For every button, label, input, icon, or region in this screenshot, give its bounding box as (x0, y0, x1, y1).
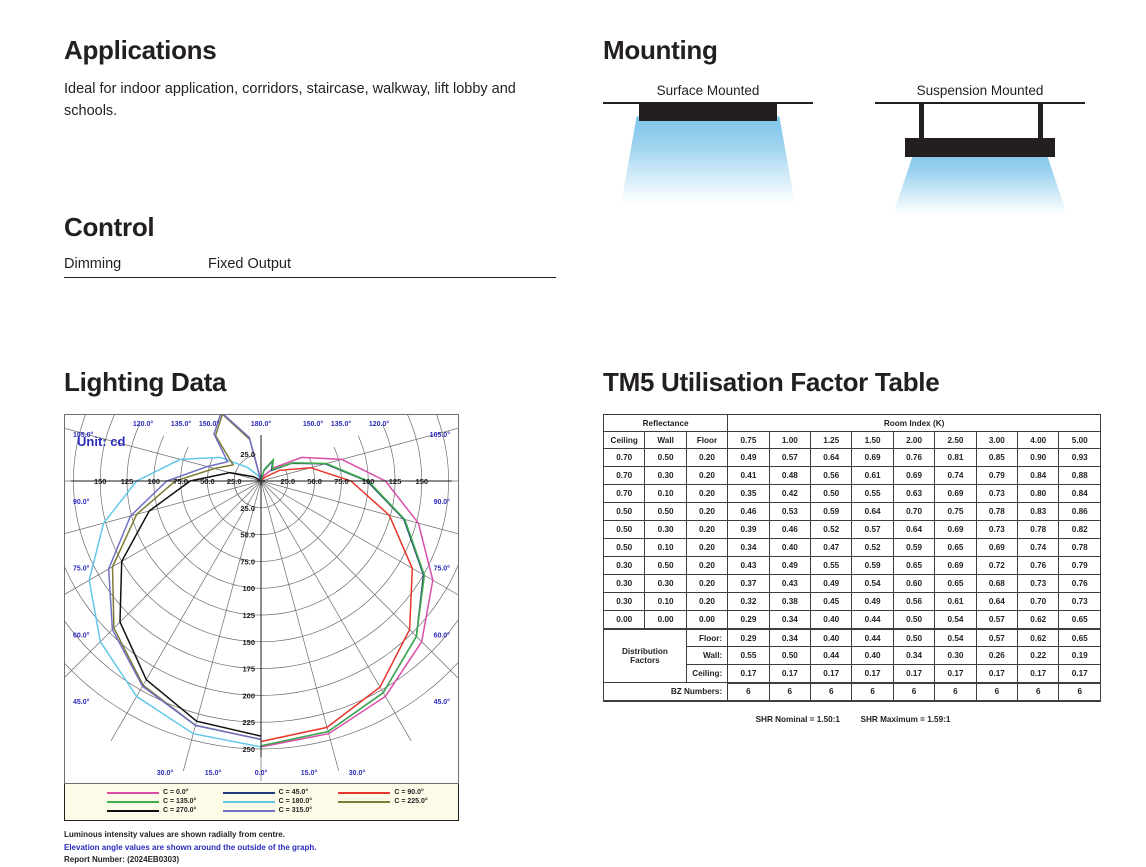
mounting-diagram-surface (603, 104, 813, 204)
cell-utilisation-factor: 0.56 (893, 593, 934, 611)
polar-radial-tick-label: 100 (362, 477, 375, 486)
cell-utilisation-factor: 0.39 (728, 521, 769, 539)
polar-elevation-label: 60.0° (434, 632, 451, 640)
polar-elevation-label: 105.0° (430, 431, 451, 439)
cell-reflectance: 0.50 (604, 521, 645, 539)
cell-distribution-factor: 0.19 (1059, 647, 1101, 665)
legend-label: C = 135.0° (163, 798, 196, 805)
cell-distribution-factor: 0.17 (1018, 665, 1059, 683)
cell-utilisation-factor: 0.90 (1018, 449, 1059, 467)
control-row-dimming: Dimming Fixed Output (64, 256, 556, 278)
distribution-factors-label-line1: Distribution (604, 647, 686, 656)
cell-bz-number: 6 (935, 683, 976, 701)
cell-utilisation-factor: 0.64 (893, 521, 934, 539)
cell-utilisation-factor: 0.65 (1059, 611, 1101, 629)
cell-reflectance: 0.00 (645, 611, 686, 629)
column-header-reflectance: Ceiling (604, 432, 645, 449)
cell-utilisation-factor: 0.57 (976, 611, 1017, 629)
cell-utilisation-factor: 0.64 (811, 449, 852, 467)
distribution-factor-name: Ceiling: (686, 665, 727, 683)
cell-utilisation-factor: 0.73 (1059, 593, 1101, 611)
cell-utilisation-factor: 0.61 (935, 593, 976, 611)
cell-distribution-factor: 0.54 (935, 629, 976, 647)
cell-utilisation-factor: 0.64 (976, 593, 1017, 611)
table-row: 0.300.500.200.430.490.550.590.650.690.72… (604, 557, 1101, 575)
cell-utilisation-factor: 0.88 (1059, 467, 1101, 485)
cell-utilisation-factor: 0.54 (935, 611, 976, 629)
mounting-option-suspension: Suspension Mounted (875, 83, 1085, 204)
legend-color-swatch (107, 801, 159, 803)
cell-utilisation-factor: 0.80 (1018, 485, 1059, 503)
cell-utilisation-factor: 0.69 (976, 539, 1017, 557)
cell-utilisation-factor: 0.59 (811, 503, 852, 521)
cell-utilisation-factor: 0.69 (893, 467, 934, 485)
legend-label: C = 225.0° (394, 798, 427, 805)
cell-distribution-factor: 0.34 (769, 629, 810, 647)
cell-distribution-factor: 0.17 (1059, 665, 1101, 683)
light-beam-icon (893, 152, 1067, 214)
table-column-header-row: CeilingWallFloor0.751.001.251.502.002.50… (604, 432, 1101, 449)
polar-elevation-label: 15.0° (205, 769, 222, 777)
polar-radial-tick-label: 200 (242, 692, 255, 701)
polar-elevation-label: 15.0° (301, 769, 318, 777)
cell-utilisation-factor: 0.59 (893, 539, 934, 557)
cell-utilisation-factor: 0.69 (935, 557, 976, 575)
cell-utilisation-factor: 0.78 (976, 503, 1017, 521)
polar-curve (261, 461, 424, 746)
cell-utilisation-factor: 0.82 (1059, 521, 1101, 539)
cell-utilisation-factor: 0.68 (976, 575, 1017, 593)
control-label-dimming: Dimming (64, 256, 208, 272)
column-header-room-index: 3.00 (976, 432, 1017, 449)
cell-distribution-factor: 0.44 (811, 647, 852, 665)
cell-utilisation-factor: 0.93 (1059, 449, 1101, 467)
cell-utilisation-factor: 0.74 (935, 467, 976, 485)
polar-radial-tick-label: 150 (416, 477, 429, 486)
cell-utilisation-factor: 0.63 (893, 485, 934, 503)
cell-distribution-factor: 0.65 (1059, 629, 1101, 647)
cell-utilisation-factor: 0.49 (728, 449, 769, 467)
cell-distribution-factor: 0.40 (852, 647, 893, 665)
tm5-title: TM5 Utilisation Factor Table (603, 369, 1103, 395)
polar-elevation-label: 150.0° (199, 420, 220, 428)
table-row: 0.700.500.200.490.570.640.690.760.810.85… (604, 449, 1101, 467)
cell-distribution-factor: 0.34 (893, 647, 934, 665)
cell-utilisation-factor: 0.84 (1018, 467, 1059, 485)
polar-radial-tick-label: 75.0 (334, 477, 349, 486)
cell-distribution-factor: 0.44 (852, 629, 893, 647)
mounting-title: Mounting (603, 37, 1103, 63)
unit-label: Unit: cd (77, 434, 125, 449)
cell-utilisation-factor: 0.73 (976, 485, 1017, 503)
table-row: 0.500.500.200.460.530.590.640.700.750.78… (604, 503, 1101, 521)
distribution-factor-row: DistributionFactorsFloor:0.290.340.400.4… (604, 629, 1101, 647)
cell-utilisation-factor: 0.37 (728, 575, 769, 593)
luminaire-body-icon (905, 138, 1055, 157)
note-radial: Luminous intensity values are shown radi… (64, 829, 544, 841)
legend-item: C = 0.0° (107, 789, 223, 796)
cell-bz-number: 6 (852, 683, 893, 701)
polar-chart-legend: C = 0.0°C = 45.0°C = 90.0°C = 135.0°C = … (64, 784, 459, 821)
legend-item: C = 270.0° (107, 807, 223, 814)
cell-bz-number: 6 (1018, 683, 1059, 701)
cell-utilisation-factor: 0.69 (935, 485, 976, 503)
applications-description: Ideal for indoor application, corridors,… (64, 78, 564, 123)
cell-distribution-factor: 0.17 (728, 665, 769, 683)
legend-item: C = 90.0° (338, 789, 454, 796)
cell-reflectance: 0.30 (645, 467, 686, 485)
legend-label: C = 45.0° (279, 789, 308, 796)
applications-section: Applications Ideal for indoor applicatio… (64, 20, 564, 137)
cell-utilisation-factor: 0.41 (728, 467, 769, 485)
cell-utilisation-factor: 0.53 (769, 503, 810, 521)
distribution-factor-name: Floor: (686, 629, 727, 647)
cell-utilisation-factor: 0.84 (1059, 485, 1101, 503)
cell-reflectance: 0.70 (604, 485, 645, 503)
cell-reflectance: 0.50 (645, 449, 686, 467)
cell-reflectance: 0.20 (686, 503, 727, 521)
cell-utilisation-factor: 0.52 (852, 539, 893, 557)
cell-utilisation-factor: 0.40 (811, 611, 852, 629)
polar-radial-tick-label: 50.0 (240, 531, 255, 540)
cell-distribution-factor: 0.50 (893, 629, 934, 647)
cell-distribution-factor: 0.17 (811, 665, 852, 683)
cell-utilisation-factor: 0.76 (1059, 575, 1101, 593)
cell-reflectance: 0.50 (604, 503, 645, 521)
cell-utilisation-factor: 0.79 (976, 467, 1017, 485)
cell-reflectance: 0.20 (686, 575, 727, 593)
polar-radial-tick-label: 50.0 (200, 477, 215, 486)
polar-radial-tick-label: 75.0 (240, 558, 255, 567)
polar-radial-tick-label: 125 (389, 477, 402, 486)
note-report-number: Report Number: (2024EB0303) (64, 854, 544, 866)
cell-utilisation-factor: 0.65 (893, 557, 934, 575)
cell-utilisation-factor: 0.43 (769, 575, 810, 593)
legend-label: C = 270.0° (163, 807, 196, 814)
cell-bz-number: 6 (976, 683, 1017, 701)
table-row: 0.500.300.200.390.460.520.570.640.690.73… (604, 521, 1101, 539)
legend-label: C = 0.0° (163, 789, 189, 796)
cell-utilisation-factor: 0.62 (1018, 611, 1059, 629)
cell-reflectance: 0.30 (604, 575, 645, 593)
polar-elevation-label: 90.0° (434, 498, 451, 506)
cell-utilisation-factor: 0.61 (852, 467, 893, 485)
cell-utilisation-factor: 0.46 (728, 503, 769, 521)
cell-distribution-factor: 0.17 (976, 665, 1017, 683)
mounting-options: Surface Mounted Suspension Mounted (603, 83, 1103, 204)
polar-radial-tick-label: 75.0 (173, 477, 188, 486)
polar-elevation-label: 75.0° (434, 565, 451, 573)
cell-distribution-factor: 0.40 (811, 629, 852, 647)
distribution-factors-label: DistributionFactors (604, 629, 687, 683)
polar-radial-tick-label: 100 (242, 585, 255, 594)
mounting-diagram-suspension (875, 104, 1085, 204)
legend-color-swatch (338, 801, 390, 803)
note-elevation: Elevation angle values are shown around … (64, 842, 544, 854)
suspension-rod-icon (1038, 104, 1043, 140)
polar-elevation-label: 45.0° (73, 699, 90, 707)
polar-elevation-label: 135.0° (171, 420, 192, 428)
cell-distribution-factor: 0.30 (935, 647, 976, 665)
control-section: Control Dimming Fixed Output (64, 197, 556, 278)
cell-utilisation-factor: 0.55 (811, 557, 852, 575)
table-row: 0.300.300.200.370.430.490.540.600.650.68… (604, 575, 1101, 593)
legend-item: C = 180.0° (223, 798, 339, 805)
cell-distribution-factor: 0.17 (935, 665, 976, 683)
group-header-room-index: Room Index (K) (728, 415, 1101, 432)
polar-elevation-label: 90.0° (73, 498, 90, 506)
cell-distribution-factor: 0.55 (728, 647, 769, 665)
cell-utilisation-factor: 0.75 (935, 503, 976, 521)
cell-bz-number: 6 (1059, 683, 1101, 701)
cell-utilisation-factor: 0.34 (728, 539, 769, 557)
cell-distribution-factor: 0.57 (976, 629, 1017, 647)
cell-utilisation-factor: 0.85 (976, 449, 1017, 467)
polar-elevation-label: 135.0° (331, 420, 352, 428)
polar-elevation-label: 180.0° (251, 420, 272, 428)
polar-curve (261, 458, 433, 748)
table-group-header-row: ReflectanceRoom Index (K) (604, 415, 1101, 432)
distribution-factors-label-line2: Factors (604, 656, 686, 665)
cell-utilisation-factor: 0.45 (811, 593, 852, 611)
cell-bz-number: 6 (728, 683, 769, 701)
column-header-room-index: 1.50 (852, 432, 893, 449)
cell-utilisation-factor: 0.47 (811, 539, 852, 557)
cell-utilisation-factor: 0.70 (1018, 593, 1059, 611)
cell-distribution-factor: 0.62 (1018, 629, 1059, 647)
cell-reflectance: 0.20 (686, 449, 727, 467)
cell-distribution-factor: 0.17 (769, 665, 810, 683)
cell-reflectance: 0.50 (645, 503, 686, 521)
cell-reflectance: 0.20 (686, 539, 727, 557)
polar-grid-spoke (65, 481, 261, 559)
legend-label: C = 180.0° (279, 798, 312, 805)
mounting-option-surface: Surface Mounted (603, 83, 813, 204)
cell-utilisation-factor: 0.46 (769, 521, 810, 539)
cell-reflectance: 0.70 (604, 467, 645, 485)
column-header-room-index: 1.25 (811, 432, 852, 449)
cell-utilisation-factor: 0.57 (852, 521, 893, 539)
group-header-reflectance: Reflectance (604, 415, 728, 432)
cell-utilisation-factor: 0.78 (1018, 521, 1059, 539)
cell-reflectance: 0.30 (604, 593, 645, 611)
column-header-room-index: 2.00 (893, 432, 934, 449)
cell-distribution-factor: 0.17 (852, 665, 893, 683)
cell-utilisation-factor: 0.83 (1018, 503, 1059, 521)
polar-elevation-label: 45.0° (434, 699, 451, 707)
applications-title: Applications (64, 37, 564, 63)
legend-color-swatch (107, 792, 159, 794)
cell-distribution-factor: 0.50 (769, 647, 810, 665)
polar-elevation-label: 120.0° (369, 420, 390, 428)
cell-utilisation-factor: 0.29 (728, 611, 769, 629)
legend-color-swatch (223, 810, 275, 812)
cell-utilisation-factor: 0.35 (728, 485, 769, 503)
cell-distribution-factor: 0.29 (728, 629, 769, 647)
lighting-data-section: Lighting Data 25.050.075.010012515017520… (64, 352, 544, 867)
polar-chart-svg: 25.050.075.010012515017520022525025.025.… (65, 415, 458, 783)
cell-utilisation-factor: 0.73 (1018, 575, 1059, 593)
cell-reflectance: 0.30 (645, 575, 686, 593)
shr-nominal: SHR Nominal = 1.50:1 (756, 715, 840, 724)
legend-color-swatch (338, 792, 390, 794)
polar-radial-tick-label: 25.0 (240, 451, 255, 460)
shr-row: SHR Nominal = 1.50:1 SHR Maximum = 1.59:… (603, 715, 1103, 724)
cell-reflectance: 0.20 (686, 593, 727, 611)
cell-utilisation-factor: 0.55 (852, 485, 893, 503)
polar-radial-tick-label: 125 (242, 611, 255, 620)
table-row: 0.700.300.200.410.480.560.610.690.740.79… (604, 467, 1101, 485)
cell-utilisation-factor: 0.86 (1059, 503, 1101, 521)
mounting-caption-surface: Surface Mounted (603, 83, 813, 98)
legend-label: C = 90.0° (394, 789, 423, 796)
tm5-section: TM5 Utilisation Factor Table Reflectance… (603, 352, 1103, 724)
polar-grid-spoke (261, 481, 458, 693)
lighting-data-title: Lighting Data (64, 369, 544, 395)
polar-radial-tick-label: 25.0 (240, 504, 255, 513)
cell-reflectance: 0.20 (686, 485, 727, 503)
cell-reflectance: 0.10 (645, 539, 686, 557)
column-header-room-index: 4.00 (1018, 432, 1059, 449)
polar-elevation-label: 0.0° (255, 769, 268, 777)
polar-radial-tick-label: 100 (148, 477, 161, 486)
polar-elevation-angle-labels: 0.0°15.0°15.0°30.0°30.0°45.0°45.0°60.0°6… (73, 420, 450, 777)
cell-reflectance: 0.00 (686, 611, 727, 629)
cell-utilisation-factor: 0.56 (811, 467, 852, 485)
polar-elevation-label: 30.0° (157, 769, 174, 777)
cell-utilisation-factor: 0.65 (935, 539, 976, 557)
control-value-dimming: Fixed Output (208, 256, 291, 272)
cell-utilisation-factor: 0.64 (852, 503, 893, 521)
cell-reflectance: 0.20 (686, 557, 727, 575)
cell-utilisation-factor: 0.44 (852, 611, 893, 629)
shr-maximum: SHR Maximum = 1.59:1 (861, 715, 951, 724)
polar-radial-tick-label: 150 (94, 477, 107, 486)
polar-grid-spoke (65, 481, 261, 693)
table-row: 0.500.100.200.340.400.470.520.590.650.69… (604, 539, 1101, 557)
cell-reflectance: 0.20 (686, 467, 727, 485)
table-row: 0.000.000.000.290.340.400.440.500.540.57… (604, 611, 1101, 629)
cell-utilisation-factor: 0.49 (769, 557, 810, 575)
column-header-room-index: 1.00 (769, 432, 810, 449)
cell-utilisation-factor: 0.42 (769, 485, 810, 503)
column-header-reflectance: Wall (645, 432, 686, 449)
cell-utilisation-factor: 0.54 (852, 575, 893, 593)
cell-utilisation-factor: 0.49 (811, 575, 852, 593)
cell-utilisation-factor: 0.69 (935, 521, 976, 539)
cell-bz-number: 6 (811, 683, 852, 701)
cell-utilisation-factor: 0.32 (728, 593, 769, 611)
cell-utilisation-factor: 0.76 (893, 449, 934, 467)
polar-radial-tick-label: 250 (242, 745, 255, 754)
legend-color-swatch (223, 792, 275, 794)
mounting-caption-suspension: Suspension Mounted (875, 83, 1085, 98)
polar-radial-tick-label: 25.0 (227, 477, 242, 486)
control-title: Control (64, 214, 556, 240)
cell-utilisation-factor: 0.69 (852, 449, 893, 467)
polar-elevation-label: 60.0° (73, 632, 90, 640)
polar-intensity-chart: 25.050.075.010012515017520022525025.025.… (64, 414, 459, 784)
product-datasheet-page: Applications Ideal for indoor applicatio… (0, 0, 1146, 825)
lighting-data-notes: Luminous intensity values are shown radi… (64, 829, 544, 866)
luminaire-body-icon (639, 104, 777, 121)
cell-utilisation-factor: 0.79 (1059, 557, 1101, 575)
suspension-rod-icon (919, 104, 924, 140)
cell-utilisation-factor: 0.38 (769, 593, 810, 611)
cell-utilisation-factor: 0.65 (935, 575, 976, 593)
legend-color-swatch (223, 801, 275, 803)
cell-reflectance: 0.20 (686, 521, 727, 539)
cell-utilisation-factor: 0.50 (811, 485, 852, 503)
column-header-room-index: 0.75 (728, 432, 769, 449)
cell-reflectance: 0.30 (645, 521, 686, 539)
cell-bz-number: 6 (769, 683, 810, 701)
legend-item: C = 225.0° (338, 798, 454, 805)
table-row: 0.300.100.200.320.380.450.490.560.610.64… (604, 593, 1101, 611)
polar-grid-spoke (261, 481, 411, 741)
cell-utilisation-factor: 0.57 (769, 449, 810, 467)
polar-elevation-label: 30.0° (349, 769, 366, 777)
cell-utilisation-factor: 0.60 (893, 575, 934, 593)
column-header-room-index: 2.50 (935, 432, 976, 449)
cell-reflectance: 0.30 (604, 557, 645, 575)
cell-utilisation-factor: 0.76 (1018, 557, 1059, 575)
cell-reflectance: 0.10 (645, 593, 686, 611)
polar-grid-spoke (261, 481, 458, 559)
cell-utilisation-factor: 0.72 (976, 557, 1017, 575)
polar-elevation-label: 150.0° (303, 420, 324, 428)
cell-utilisation-factor: 0.78 (1059, 539, 1101, 557)
cell-distribution-factor: 0.17 (893, 665, 934, 683)
mounting-section: Mounting Surface Mounted Suspension Moun… (603, 20, 1103, 204)
cell-distribution-factor: 0.26 (976, 647, 1017, 665)
cell-utilisation-factor: 0.40 (769, 539, 810, 557)
cell-utilisation-factor: 0.74 (1018, 539, 1059, 557)
column-header-room-index: 5.00 (1059, 432, 1101, 449)
cell-distribution-factor: 0.22 (1018, 647, 1059, 665)
utilisation-factor-table: ReflectanceRoom Index (K)CeilingWallFloo… (603, 414, 1101, 702)
polar-radial-tick-label: 225 (242, 719, 255, 728)
cell-utilisation-factor: 0.48 (769, 467, 810, 485)
cell-utilisation-factor: 0.73 (976, 521, 1017, 539)
polar-elevation-label: 120.0° (133, 420, 154, 428)
legend-item: C = 315.0° (223, 807, 339, 814)
polar-radial-tick-label: 50.0 (307, 477, 322, 486)
light-beam-icon (621, 116, 795, 204)
cell-utilisation-factor: 0.50 (893, 611, 934, 629)
cell-utilisation-factor: 0.34 (769, 611, 810, 629)
polar-elevation-label: 75.0° (73, 565, 90, 573)
cell-reflectance: 0.70 (604, 449, 645, 467)
cell-utilisation-factor: 0.52 (811, 521, 852, 539)
cell-reflectance: 0.50 (645, 557, 686, 575)
table-row: 0.700.100.200.350.420.500.550.630.690.73… (604, 485, 1101, 503)
legend-color-swatch (107, 810, 159, 812)
cell-utilisation-factor: 0.49 (852, 593, 893, 611)
cell-utilisation-factor: 0.81 (935, 449, 976, 467)
cell-reflectance: 0.00 (604, 611, 645, 629)
polar-radial-tick-label: 125 (121, 477, 134, 486)
cell-reflectance: 0.50 (604, 539, 645, 557)
cell-utilisation-factor: 0.70 (893, 503, 934, 521)
column-header-reflectance: Floor (686, 432, 727, 449)
cell-utilisation-factor: 0.59 (852, 557, 893, 575)
legend-item: C = 135.0° (107, 798, 223, 805)
distribution-factor-name: Wall: (686, 647, 727, 665)
cell-bz-number: 6 (893, 683, 934, 701)
legend-label: C = 315.0° (279, 807, 312, 814)
polar-grid-spoke (261, 415, 458, 481)
